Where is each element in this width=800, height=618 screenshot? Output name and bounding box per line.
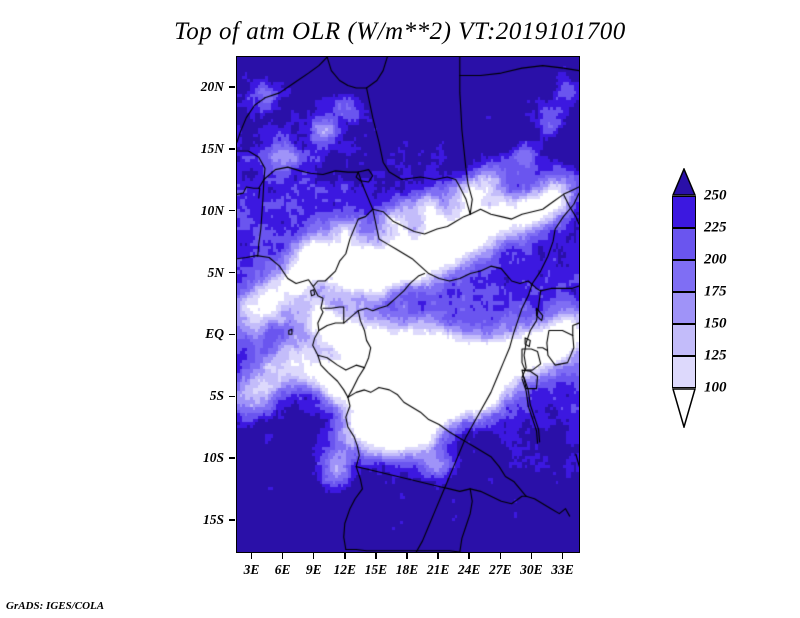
colorbar-tick-label: 250: [704, 188, 727, 205]
y-axis-label: 20N: [158, 79, 224, 95]
y-axis-tick: [229, 396, 235, 398]
colorbar-tick-label: 225: [704, 220, 727, 237]
x-axis-label: 21E: [427, 562, 450, 578]
colorbar-band: [672, 324, 696, 356]
colorbar-band: [672, 356, 696, 388]
x-axis-tick: [375, 553, 377, 559]
x-axis-label: 9E: [306, 562, 322, 578]
olr-field-raster: [237, 57, 579, 552]
y-axis-tick: [229, 519, 235, 521]
x-axis-label: 15E: [365, 562, 388, 578]
x-axis-tick: [282, 553, 284, 559]
y-axis-tick: [229, 272, 235, 274]
y-axis-label: 5N: [158, 265, 224, 281]
x-axis-tick: [437, 553, 439, 559]
page-title: Top of atm OLR (W/m**2) VT:2019101700: [0, 18, 800, 46]
colorbar-tick-label: 100: [704, 380, 727, 397]
colorbar-band: [672, 292, 696, 324]
y-axis-tick: [229, 210, 235, 212]
y-axis-tick: [229, 334, 235, 336]
y-axis-label: 15S: [158, 512, 224, 528]
colorbar-tick-label: 150: [704, 316, 727, 333]
colorbar-cap-low: [672, 388, 696, 428]
x-axis-label: 33E: [551, 562, 574, 578]
x-axis-tick: [531, 553, 533, 559]
grads-olr-map-page: Top of atm OLR (W/m**2) VT:2019101700 20…: [0, 0, 800, 618]
y-axis-label: 10S: [158, 450, 224, 466]
x-axis-label: 27E: [489, 562, 512, 578]
y-axis-tick: [229, 86, 235, 88]
y-axis-tick: [229, 457, 235, 459]
colorbar-band: [672, 260, 696, 292]
colorbar-cap-high: [672, 168, 696, 196]
x-axis-tick: [251, 553, 253, 559]
y-axis-label: 5S: [158, 388, 224, 404]
x-axis-tick: [500, 553, 502, 559]
colorbar-tick-label: 200: [704, 252, 727, 269]
x-axis-label: 24E: [458, 562, 481, 578]
x-axis-label: 12E: [334, 562, 357, 578]
x-axis-tick: [313, 553, 315, 559]
y-axis-label: 15N: [158, 141, 224, 157]
y-axis-tick: [229, 148, 235, 150]
y-axis-label: 10N: [158, 203, 224, 219]
footer-credit: GrADS: IGES/COLA: [6, 600, 104, 612]
colorbar-band: [672, 196, 696, 228]
colorbar-tick-label: 175: [704, 284, 727, 301]
map-plot-area: [236, 56, 580, 553]
colorbar-tick-label: 125: [704, 348, 727, 365]
x-axis-label: 30E: [520, 562, 543, 578]
x-axis-label: 6E: [275, 562, 291, 578]
y-axis-label: EQ: [158, 326, 224, 342]
x-axis-tick: [468, 553, 470, 559]
x-axis-label: 18E: [396, 562, 419, 578]
x-axis-tick: [344, 553, 346, 559]
x-axis-tick: [562, 553, 564, 559]
x-axis-label: 3E: [244, 562, 260, 578]
colorbar-band: [672, 228, 696, 260]
x-axis-tick: [406, 553, 408, 559]
